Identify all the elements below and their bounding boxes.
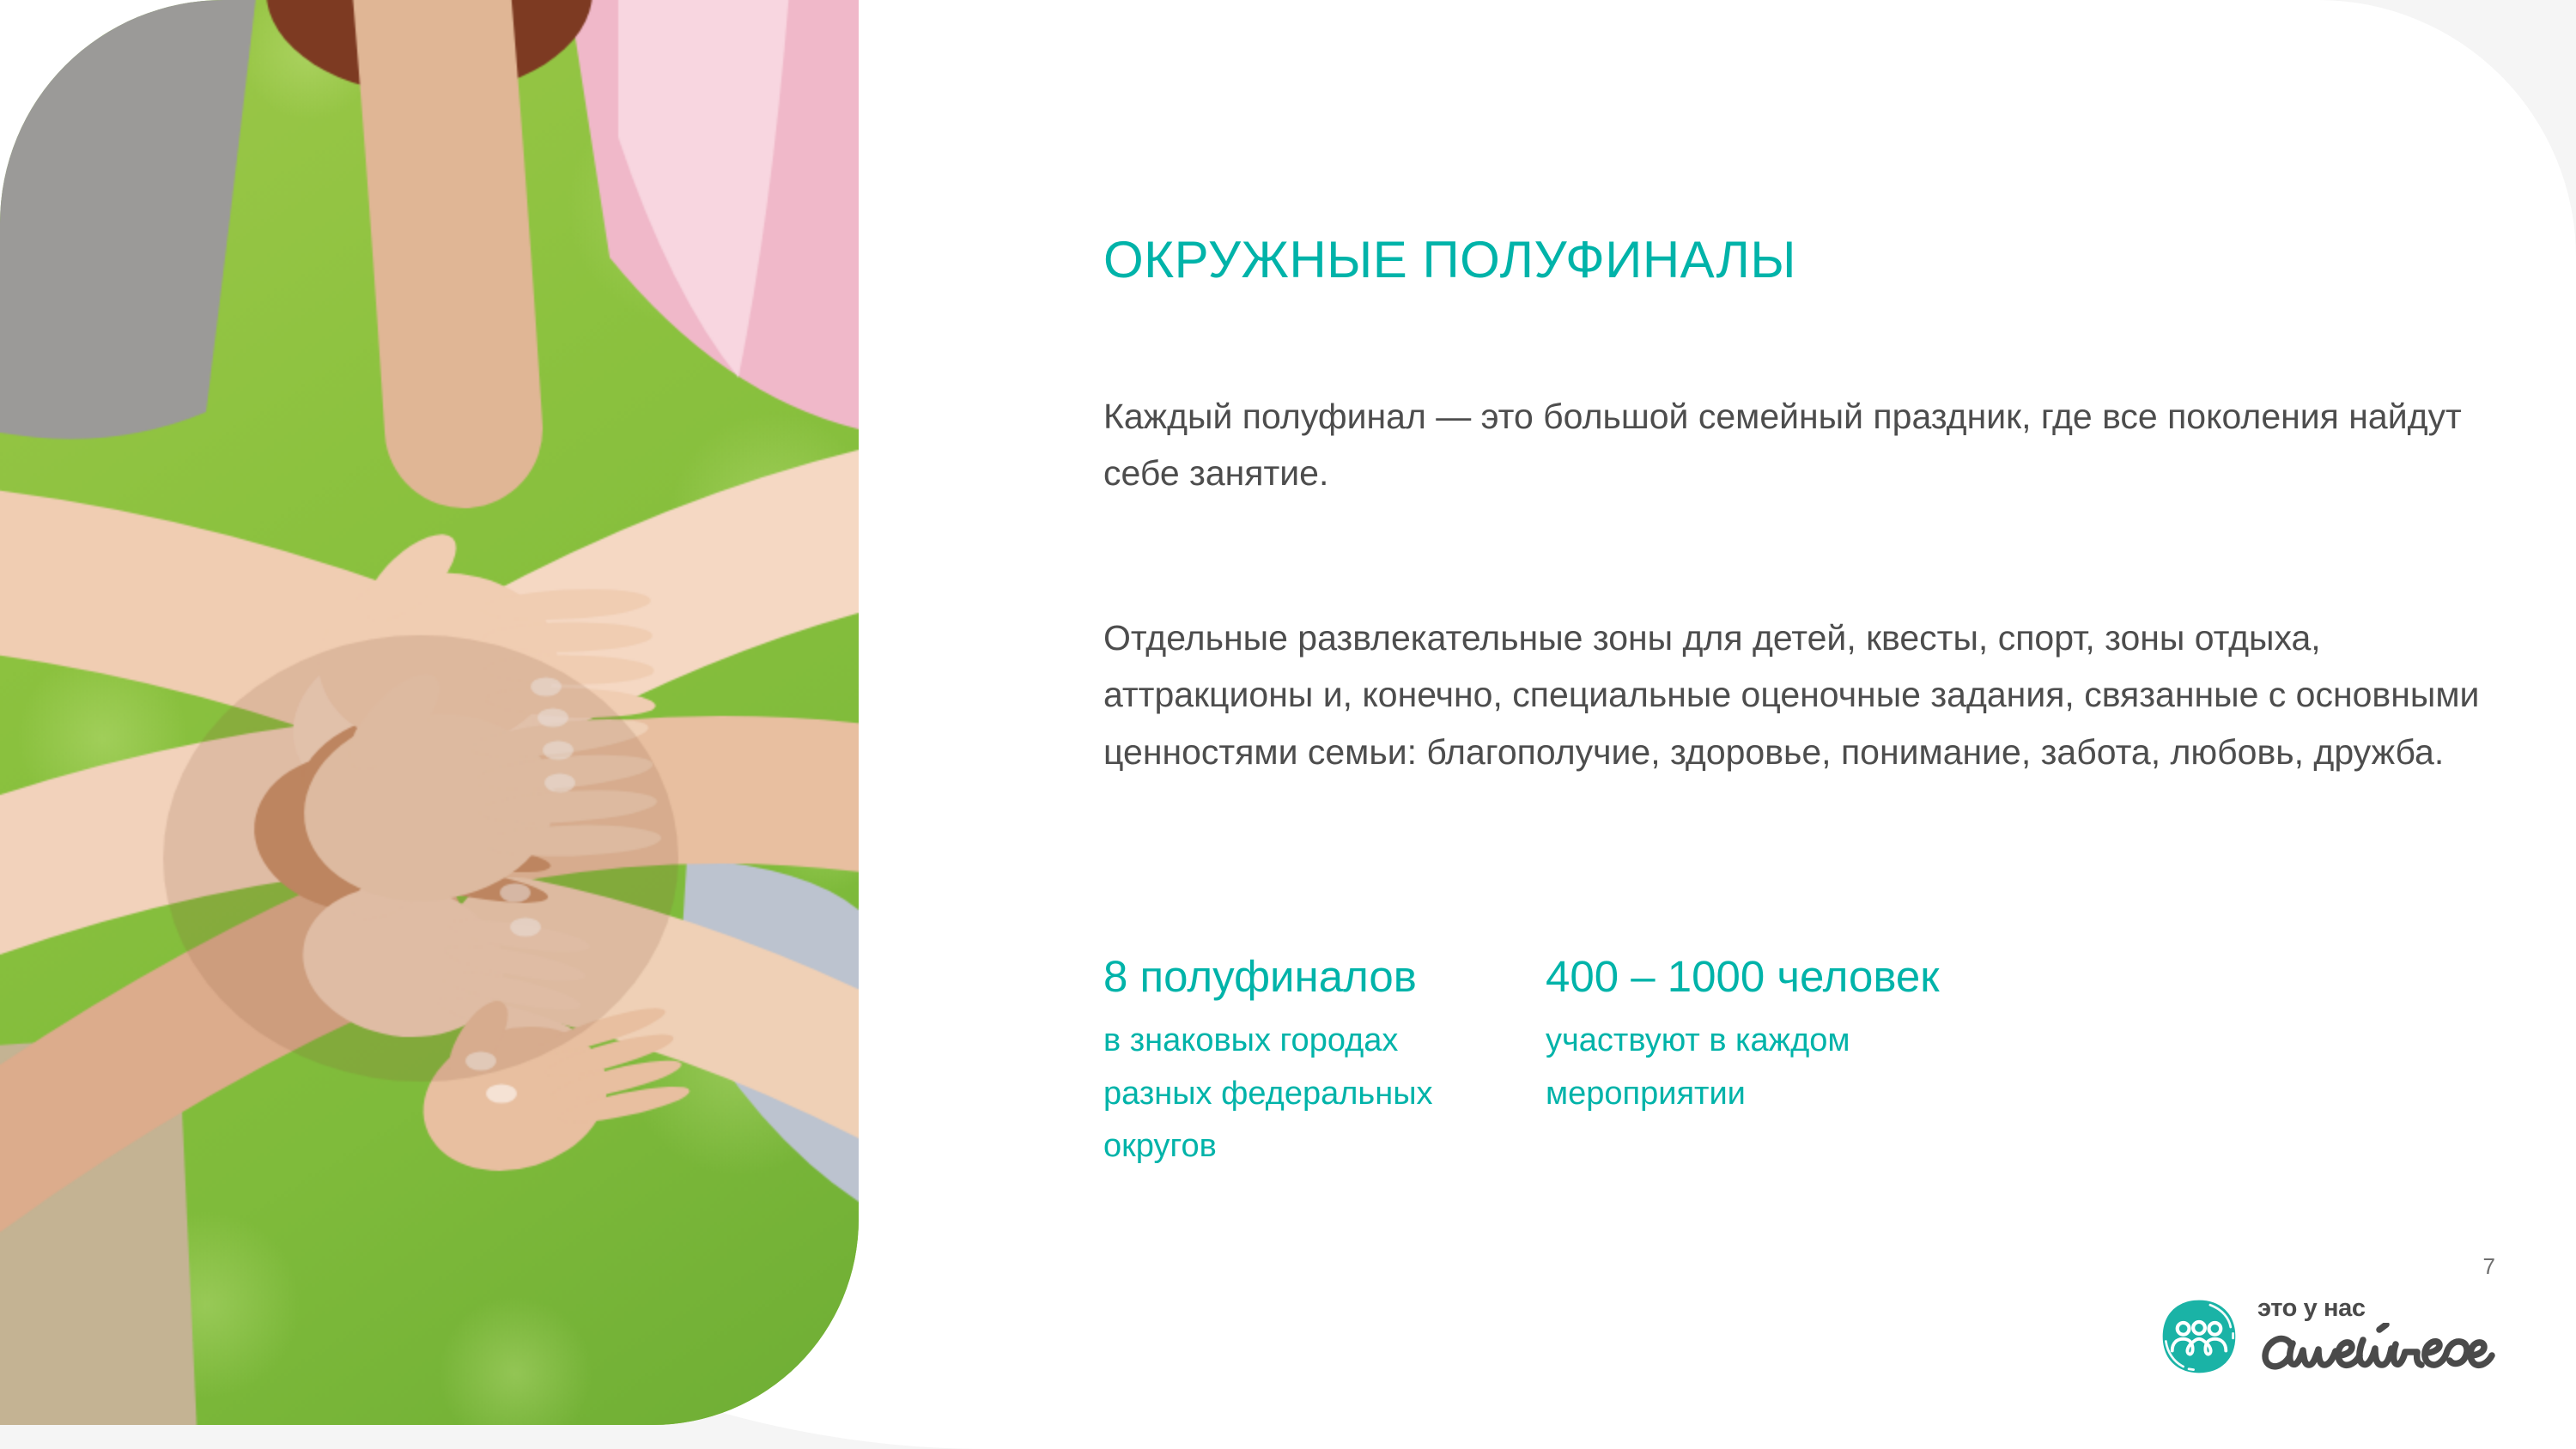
stats-row: 8 полуфиналов в знаковых городах разных … [1103, 951, 2477, 1173]
paragraph-details: Отдельные развлекательные зоны для детей… [1103, 609, 2512, 780]
family-group-icon [2160, 1297, 2239, 1376]
brand-logo: это у нас [2160, 1296, 2503, 1376]
stat-participants-label: участвуют в каждом мероприятии [1546, 1015, 1992, 1120]
hands-together-photo [0, 0, 859, 1425]
text-column: ОКРУЖНЫЕ ПОЛУФИНАЛЫ Каждый полуфинал — э… [1103, 0, 2494, 1449]
stat-semifinals: 8 полуфиналов в знаковых городах разных … [1103, 951, 1546, 1173]
logo-wordmark: это у нас [2254, 1296, 2503, 1376]
page-number: 7 [2483, 1253, 2495, 1280]
stat-participants-value: 400 – 1000 человек [1546, 951, 2147, 1003]
photo-panel [0, 0, 859, 1425]
stat-semifinals-label: в знаковых городах разных федеральных ок… [1103, 1015, 1498, 1173]
paragraph-intro: Каждый полуфинал — это большой семейный … [1103, 388, 2512, 502]
page-title: ОКРУЖНЫЕ ПОЛУФИНАЛЫ [1103, 234, 1796, 286]
stat-semifinals-value: 8 полуфиналов [1103, 951, 1546, 1003]
stat-participants: 400 – 1000 человек участвуют в каждом ме… [1546, 951, 2147, 1173]
logo-tagline: это у нас [2257, 1296, 2503, 1321]
slide: ОКРУЖНЫЕ ПОЛУФИНАЛЫ Каждый полуфинал — э… [0, 0, 2576, 1449]
logo-script-semeynoe [2254, 1323, 2503, 1376]
